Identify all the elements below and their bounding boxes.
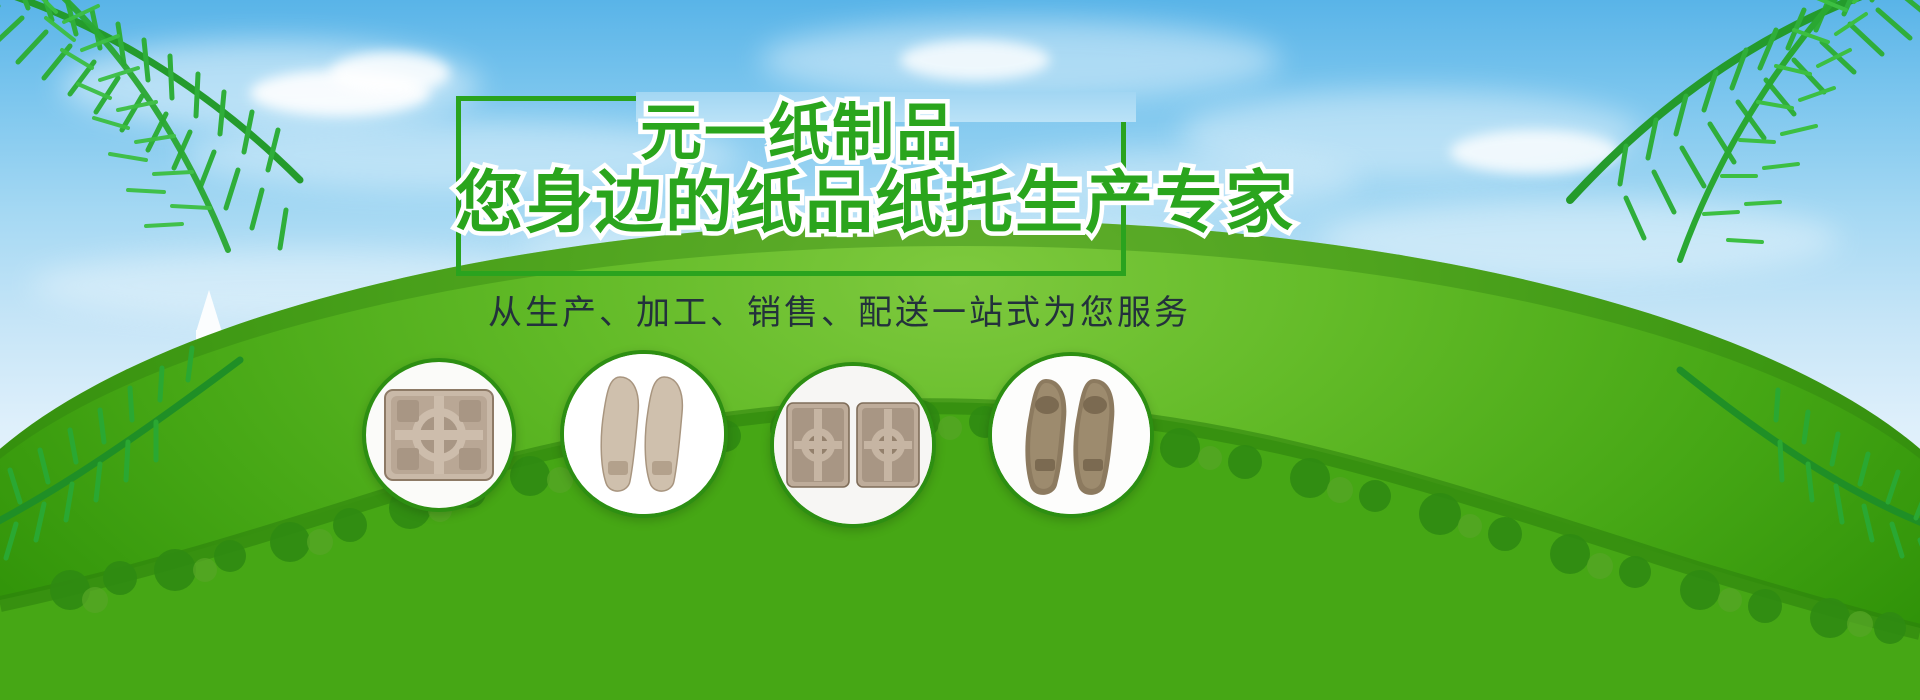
product-circle-insole-light[interactable] [560, 350, 728, 518]
product-circle-insole-dark[interactable] [988, 352, 1154, 518]
double-pulp-tray-icon [785, 397, 921, 493]
palm-leaf-right-lower-icon [1620, 300, 1920, 580]
product-circle-double-tray[interactable] [770, 362, 936, 528]
headline-text: 您身边的纸品纸托生产专家 [455, 147, 1295, 246]
cloud-shape [900, 40, 1050, 80]
product-circle-square-tray[interactable] [362, 358, 516, 512]
paper-insole-pair-light-icon [584, 369, 704, 499]
subtitle-text: 从生产、加工、销售、配送一站式为您服务 [488, 285, 1191, 334]
square-pulp-tray-icon [379, 380, 499, 490]
palm-leaf-left-icon [0, 0, 440, 350]
promo-banner: 元一纸制品 您身边的纸品纸托生产专家 从生产、加工、销售、配送一站式为您服务 [0, 0, 1920, 700]
paper-insole-pair-dark-icon [1010, 371, 1132, 499]
palm-leaf-left-lower-icon [0, 300, 300, 600]
